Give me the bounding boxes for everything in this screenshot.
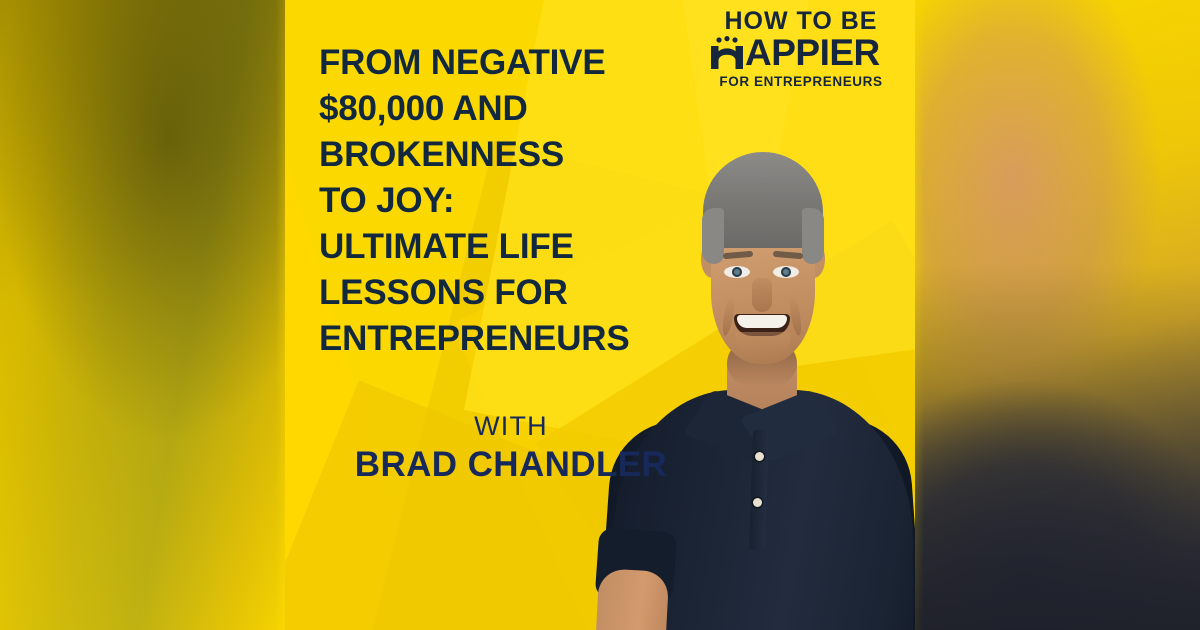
host-credit: WITH BRAD CHANDLER	[319, 410, 703, 486]
nose	[752, 278, 772, 312]
episode-title: FROM NEGATIVE $80,000 AND BROKENNESS TO …	[319, 40, 703, 362]
shirt-button	[755, 452, 764, 461]
blurred-backdrop-right	[908, 0, 1200, 630]
podcast-logo: HOW TO BE APPIER FOR ENTREPRENEURS	[701, 8, 901, 90]
title-line: FROM NEGATIVE	[319, 40, 703, 86]
blurred-backdrop-left	[0, 0, 290, 630]
podcast-cover-art: FROM NEGATIVE $80,000 AND BROKENNESS TO …	[0, 0, 1200, 630]
shirt-button	[753, 498, 762, 507]
title-line: $80,000 AND	[319, 86, 703, 132]
title-line: BROKENNESS	[319, 132, 703, 178]
teeth	[737, 315, 787, 328]
title-line: ULTIMATE LIFE	[319, 224, 703, 270]
title-line: ENTREPRENEURS	[319, 316, 703, 362]
with-label: WITH	[319, 410, 703, 442]
logo-wordmark-row: APPIER	[701, 35, 901, 71]
title-line: TO JOY:	[319, 178, 703, 224]
hair-side-left	[702, 208, 724, 264]
logo-wordmark-appier: APPIER	[745, 34, 880, 72]
iris-right	[781, 267, 791, 277]
cover-art-panel: FROM NEGATIVE $80,000 AND BROKENNESS TO …	[285, 0, 915, 630]
host-name: BRAD CHANDLER	[319, 444, 703, 486]
hair-side-right	[802, 208, 824, 264]
title-line: LESSONS FOR	[319, 270, 703, 316]
iris-left	[732, 267, 742, 277]
logo-line-how-to-be: HOW TO BE	[701, 8, 901, 35]
logo-line-for-entrepreneurs: FOR ENTREPRENEURS	[701, 74, 901, 90]
